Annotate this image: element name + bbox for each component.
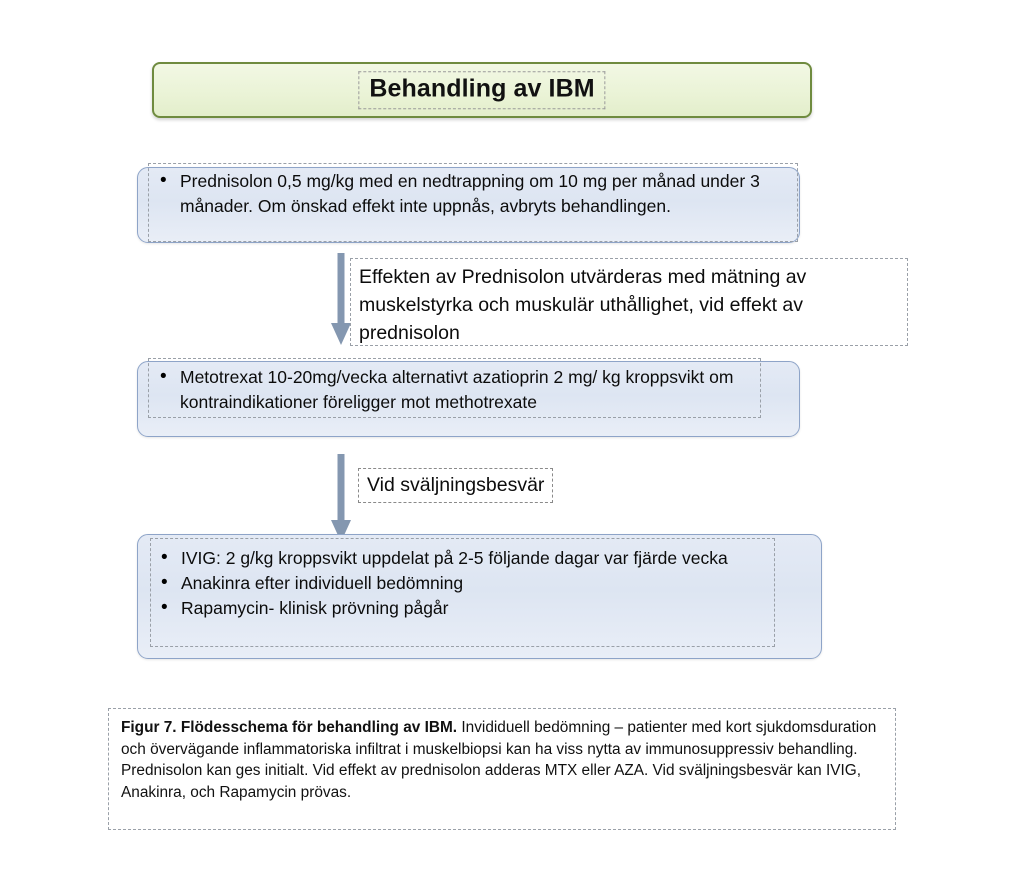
figure-title: Behandling av IBM [369, 75, 594, 103]
list-item: Anakinra efter individuell bedömning [156, 571, 776, 596]
label-svaljningsbesvar: Vid sväljningsbesvär [358, 468, 553, 503]
figure-canvas: Behandling av IBM Prednisolon 0,5 mg/kg … [0, 0, 1024, 882]
title-box: Behandling av IBM [152, 62, 812, 118]
box-effekt-utvardering-text: Effekten av Prednisolon utvärderas med m… [359, 263, 904, 347]
arrow-down-2 [329, 454, 353, 544]
figure-caption: Figur 7. Flödesschema för behandling av … [108, 708, 896, 830]
list-item: Prednisolon 0,5 mg/kg med en nedtrappnin… [155, 169, 795, 219]
box-metotrexat-list: Metotrexat 10-20mg/vecka alternativt aza… [155, 365, 760, 415]
label-svaljningsbesvar-text: Vid sväljningsbesvär [367, 474, 544, 496]
list-item: Metotrexat 10-20mg/vecka alternativt aza… [155, 365, 760, 415]
title-dashed-frame: Behandling av IBM [358, 71, 605, 109]
figure-caption-text: Figur 7. Flödesschema för behandling av … [121, 717, 883, 803]
figure-caption-lead: Figur 7. Flödesschema för behandling av … [121, 719, 457, 736]
list-item: IVIG: 2 g/kg kroppsvikt uppdelat på 2-5 … [156, 546, 776, 571]
box-ivig-list: IVIG: 2 g/kg kroppsvikt uppdelat på 2-5 … [156, 546, 776, 621]
list-item: Rapamycin- klinisk prövning pågår [156, 596, 776, 621]
box-prednisolon-list: Prednisolon 0,5 mg/kg med en nedtrappnin… [155, 169, 795, 219]
